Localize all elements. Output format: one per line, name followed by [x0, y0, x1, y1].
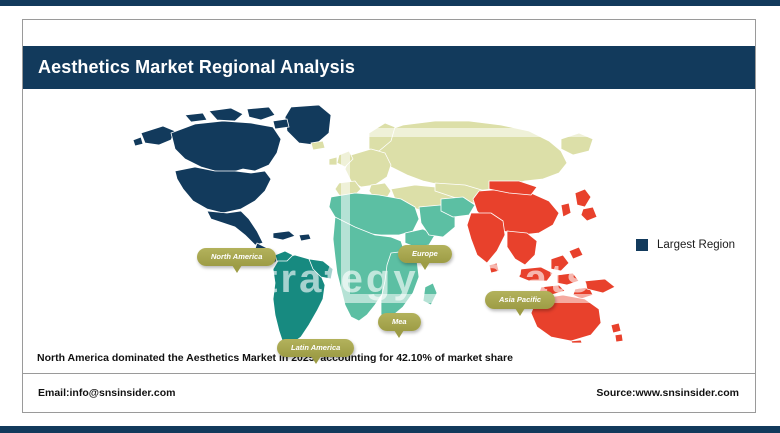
callout-europe[interactable]: Europe — [398, 245, 452, 263]
callout-europe-label: Europe — [398, 245, 452, 263]
page-title: Aesthetics Market Regional Analysis — [23, 57, 355, 78]
callout-mea[interactable]: Mea — [378, 313, 421, 331]
footer-email[interactable]: Email:info@snsinsider.com — [38, 387, 175, 399]
callout-north-america[interactable]: North America — [197, 248, 276, 266]
legend-swatch-largest-region — [636, 239, 648, 251]
callout-north-america-label: North America — [197, 248, 276, 266]
callout-tail — [420, 262, 430, 270]
callout-tail — [311, 356, 321, 364]
callout-latin-america[interactable]: Latin America — [277, 339, 354, 357]
page-top-bar — [0, 0, 780, 6]
callout-asia-pacific[interactable]: Asia Pacific — [485, 291, 555, 309]
legend: Largest Region — [636, 239, 735, 251]
page-bottom-bar — [0, 426, 780, 433]
callout-latin-america-label: Latin America — [277, 339, 354, 357]
legend-label-largest-region: Largest Region — [657, 239, 735, 251]
callout-tail — [394, 330, 404, 338]
footer-source[interactable]: Source:www.snsinsider.com — [596, 387, 739, 399]
report-card: Aesthetics Market Regional Analysis Stra… — [22, 19, 756, 413]
title-band: Aesthetics Market Regional Analysis — [23, 46, 755, 89]
callout-mea-label: Mea — [378, 313, 421, 331]
map-body: Strategy & Stats — [23, 89, 755, 344]
caption-text: North America dominated the Aesthetics M… — [37, 352, 513, 364]
region-latin-america — [273, 251, 333, 343]
footer: Email:info@snsinsider.com Source:www.sns… — [23, 373, 755, 412]
callout-tail — [232, 265, 242, 273]
callout-asia-pacific-label: Asia Pacific — [485, 291, 555, 309]
callout-tail — [515, 308, 525, 316]
region-north-america — [133, 105, 331, 263]
region-asia-pacific — [467, 181, 623, 343]
